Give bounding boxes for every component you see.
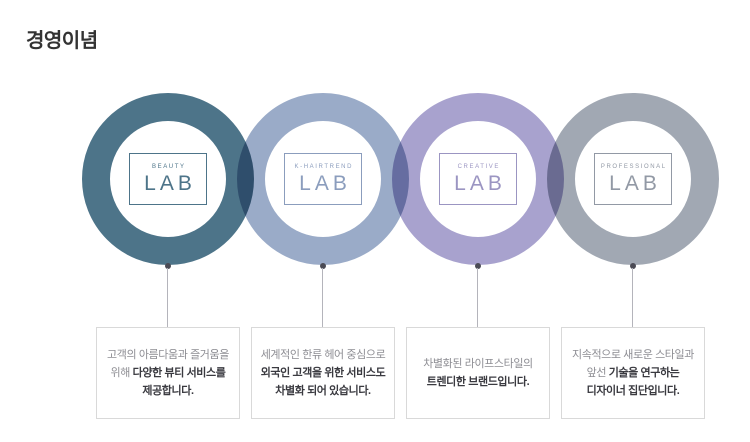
brand-rings-diagram: BEAUTY LAB K-HAIRTREND LAB CREATIVE LAB … xyxy=(0,0,750,300)
caption-card-k-hairtrend-lab: 세계적인 한류 헤어 중심으로 외국인 고객을 위한 서비스도 차별화 되어 있… xyxy=(251,327,395,419)
connector-dot-icon-2 xyxy=(320,263,326,269)
connector-dot-icon-1 xyxy=(165,263,171,269)
brand-ring-beauty-lab[interactable] xyxy=(82,93,254,265)
caption-text-3: 차별화된 라이프스타일의 트렌디한 브랜드입니다. xyxy=(413,355,543,391)
caption-card-creative-lab: 차별화된 라이프스타일의 트렌디한 브랜드입니다. xyxy=(406,327,550,419)
connector-1 xyxy=(167,263,169,327)
connector-dot-icon-3 xyxy=(475,263,481,269)
caption-bold-4b: 디자이너 집단입니다. xyxy=(587,385,680,397)
brand-ring-creative-lab[interactable] xyxy=(392,93,564,265)
caption-bold-2b: 차별화 되어 있습니다. xyxy=(275,385,370,397)
brand-ring-k-hairtrend-lab[interactable] xyxy=(237,93,409,265)
connector-2 xyxy=(322,263,324,327)
caption-bold-1a: 다양한 뷰티 서비스를 xyxy=(133,367,226,379)
caption-bold-2a: 외국인 고객을 위한 서비스도 xyxy=(261,367,386,379)
caption-bold-3a: 트렌디한 브랜드입니다. xyxy=(427,376,530,388)
connector-3 xyxy=(477,263,479,327)
caption-text-4: 지속적으로 새로운 스타일과 앞선 기술을 연구하는 디자이너 집단입니다. xyxy=(568,346,698,400)
caption-light-1a: 고객의 아름다움과 즐거움을 xyxy=(107,349,229,361)
caption-text-2: 세계적인 한류 헤어 중심으로 외국인 고객을 위한 서비스도 차별화 되어 있… xyxy=(258,346,388,400)
caption-light-4b: 앞선 xyxy=(587,367,609,379)
caption-light-3a: 차별화된 라이프스타일의 xyxy=(423,358,533,370)
ring-band-1 xyxy=(82,93,254,265)
connector-dot-icon-4 xyxy=(630,263,636,269)
caption-text-1: 고객의 아름다움과 즐거움을 위해 다양한 뷰티 서비스를 제공합니다. xyxy=(103,346,233,400)
brand-ring-professional-lab[interactable] xyxy=(547,93,719,265)
connector-4 xyxy=(632,263,634,327)
caption-card-beauty-lab: 고객의 아름다움과 즐거움을 위해 다양한 뷰티 서비스를 제공합니다. xyxy=(96,327,240,419)
connector-line-1 xyxy=(167,268,168,327)
caption-light-1b: 위해 xyxy=(111,367,133,379)
ring-band-4 xyxy=(547,93,719,265)
caption-light-4a: 지속적으로 새로운 스타일과 xyxy=(572,349,694,361)
ring-band-2 xyxy=(237,93,409,265)
caption-card-professional-lab: 지속적으로 새로운 스타일과 앞선 기술을 연구하는 디자이너 집단입니다. xyxy=(561,327,705,419)
connector-line-2 xyxy=(322,268,323,327)
connector-line-3 xyxy=(477,268,478,327)
caption-bold-1b: 제공합니다. xyxy=(142,385,193,397)
caption-bold-4a: 기술을 연구하는 xyxy=(609,367,680,379)
ring-band-3 xyxy=(392,93,564,265)
caption-light-2a: 세계적인 한류 헤어 중심으로 xyxy=(261,349,386,361)
connector-line-4 xyxy=(632,268,633,327)
